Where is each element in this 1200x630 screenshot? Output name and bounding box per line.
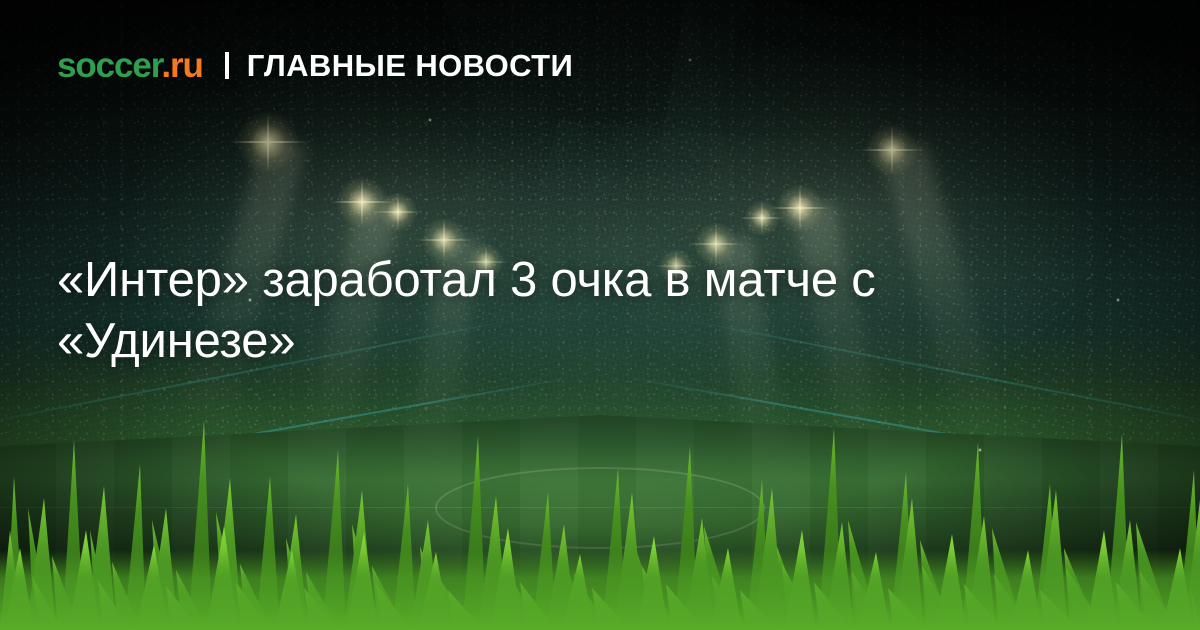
news-share-card: soccer.ru ГЛАВНЫЕ НОВОСТИ «Интер» зарабо…	[0, 0, 1200, 630]
header-separator	[225, 52, 229, 79]
foreground-grass	[0, 380, 1200, 630]
logo-word-soccer: soccer	[57, 46, 161, 85]
grass-base-fill	[0, 550, 1200, 630]
site-header: soccer.ru ГЛАВНЫЕ НОВОСТИ	[57, 48, 573, 83]
soccer-ru-logo[interactable]: soccer.ru	[57, 48, 203, 83]
header-kicker-label: ГЛАВНЫЕ НОВОСТИ	[247, 50, 573, 81]
article-headline: «Интер» заработал 3 очка в матче с «Удин…	[57, 250, 1117, 373]
logo-word-ru: .ru	[161, 46, 202, 85]
grass-blades-svg	[0, 380, 1200, 630]
